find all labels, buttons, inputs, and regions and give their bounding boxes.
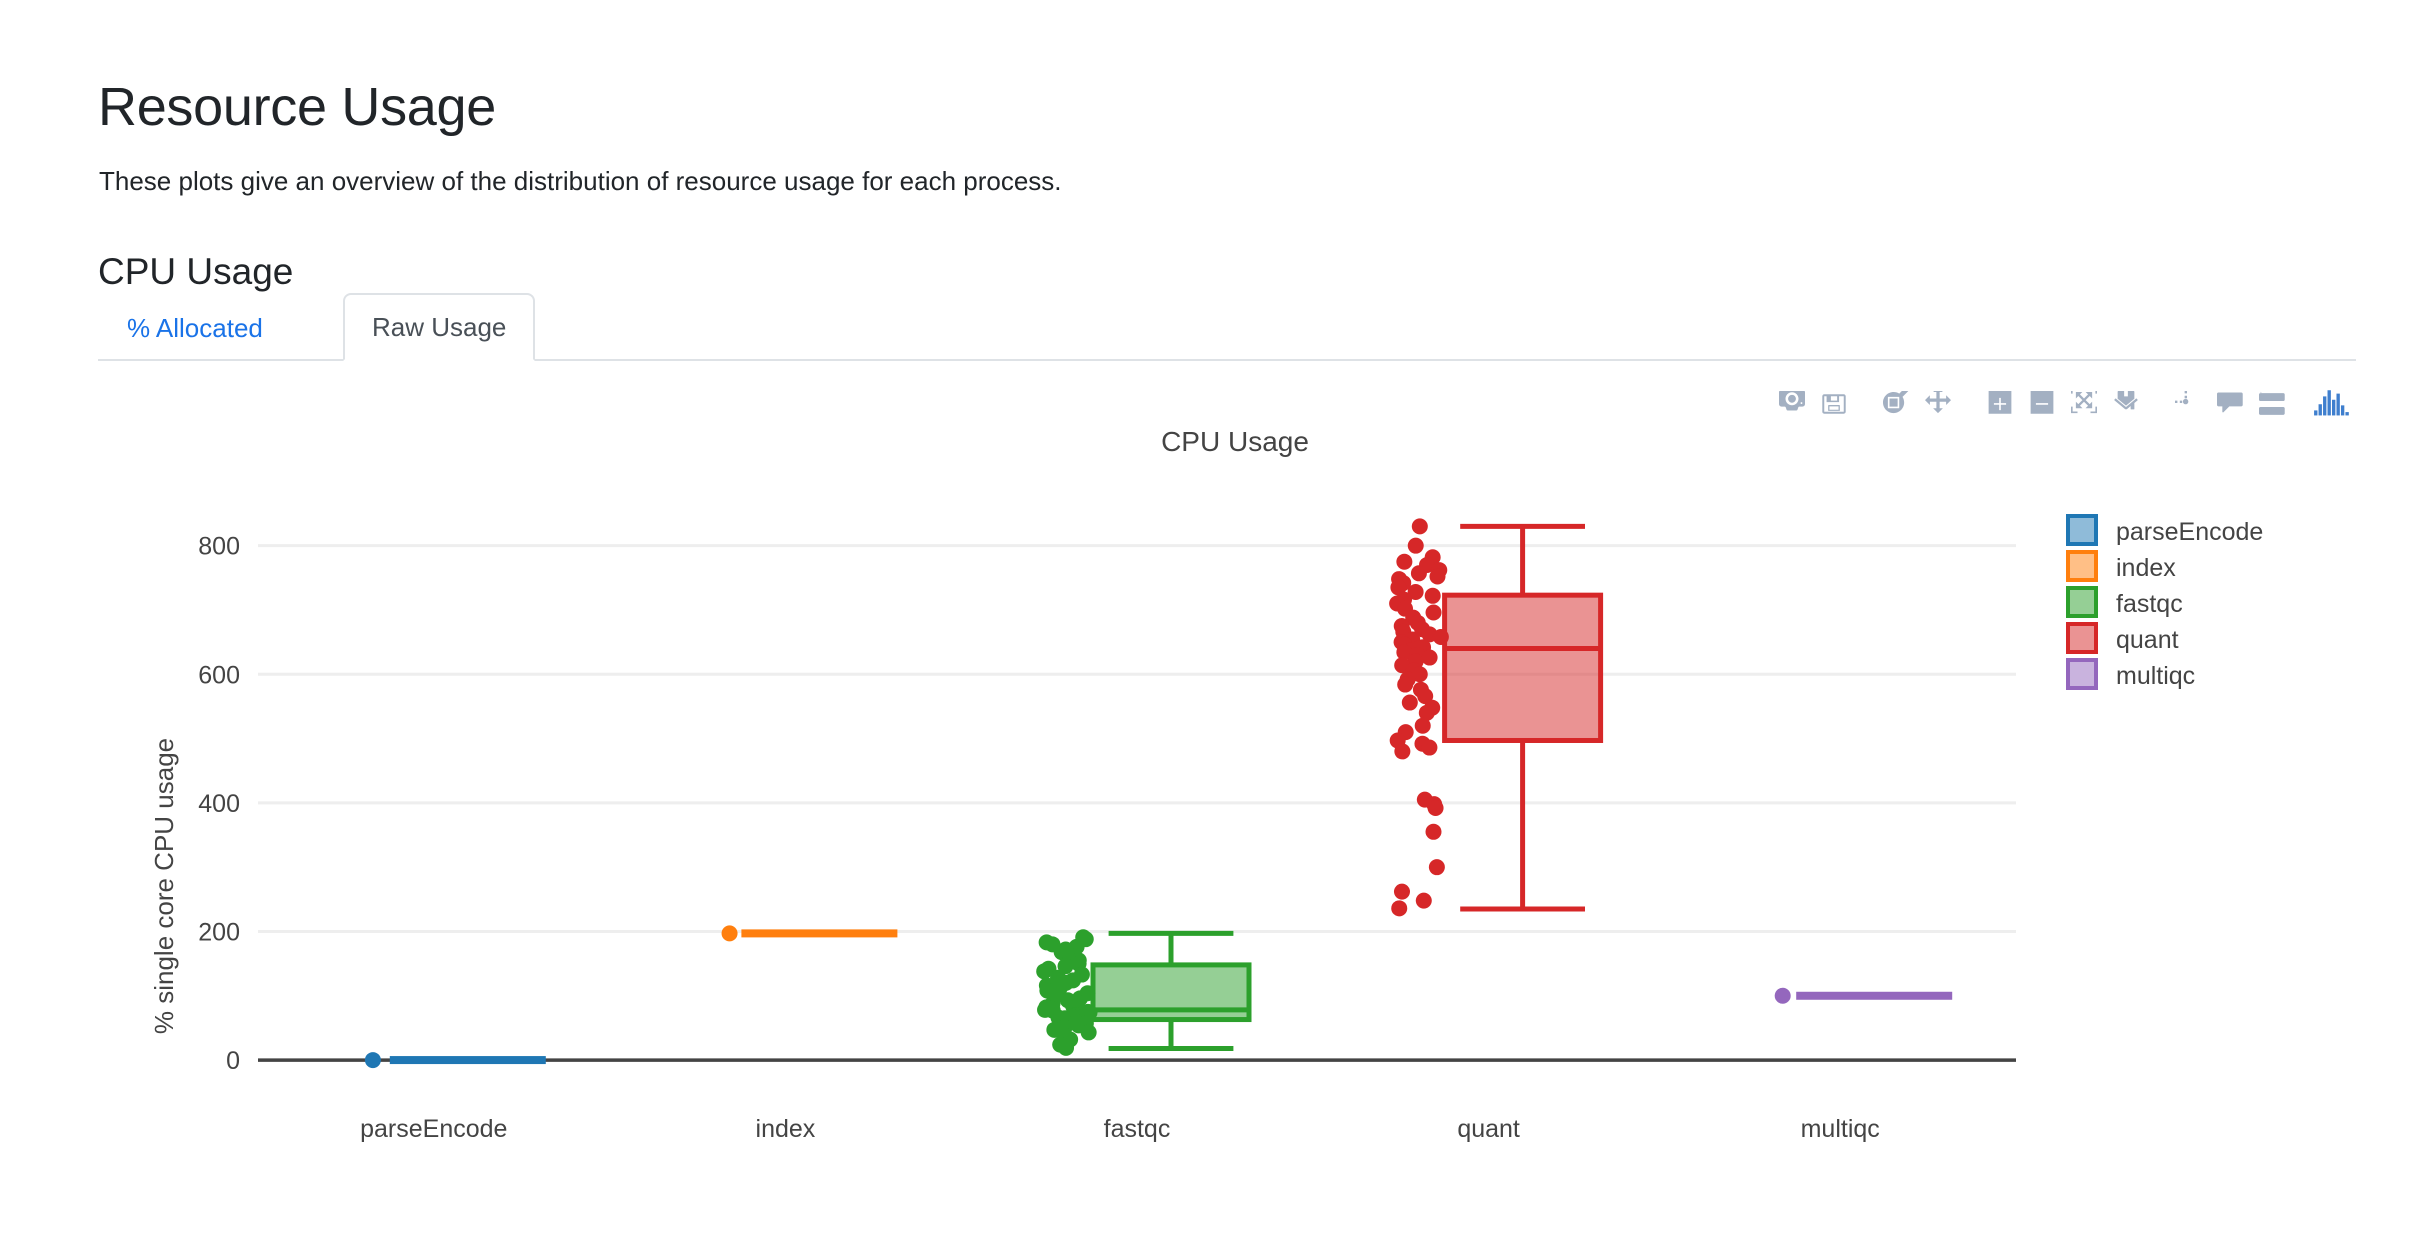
data-point[interactable] [1428, 800, 1444, 816]
tab-pct-allocated-label: % Allocated [127, 313, 263, 344]
legend-swatch-fastqc[interactable] [2068, 588, 2096, 616]
data-point[interactable] [1408, 538, 1424, 554]
data-point[interactable] [1415, 718, 1431, 734]
box-series-fastqc[interactable] [1036, 929, 1249, 1056]
data-point[interactable] [1433, 629, 1449, 645]
legend-swatch-parseEncode[interactable] [2068, 516, 2096, 544]
x-axis-tick-label: multiqc [1801, 1115, 1880, 1143]
data-point[interactable] [1412, 518, 1428, 534]
section-title-cpu-usage: CPU Usage [98, 251, 293, 293]
chart-title: CPU Usage [1161, 426, 1309, 457]
tab-raw-usage[interactable]: Raw Usage [343, 293, 535, 361]
cpu-usage-boxplot[interactable]: CPU Usage 0200400600800 parseEncodeindex… [98, 361, 2356, 1181]
box-iqr[interactable] [1445, 595, 1601, 740]
x-axis-tick-label: fastqc [1104, 1115, 1171, 1143]
data-point[interactable] [1402, 695, 1418, 711]
data-point[interactable] [1775, 988, 1791, 1004]
box-series-multiqc[interactable] [1775, 988, 1952, 1004]
box-flat-line [1796, 992, 1952, 1000]
cpu-usage-plot-container: CPU Usage 0200400600800 parseEncodeindex… [98, 361, 2356, 1181]
tab-pct-allocated[interactable]: % Allocated [98, 293, 292, 361]
page-description: These plots give an overview of the dist… [99, 166, 1062, 197]
box-series-index[interactable] [722, 925, 898, 941]
legend-swatch-quant[interactable] [2068, 624, 2096, 652]
cpu-usage-tablist: % Allocated Raw Usage [98, 293, 2356, 361]
data-point[interactable] [1391, 900, 1407, 916]
y-axis-tick-labels: 0200400600800 [198, 533, 240, 1075]
data-point[interactable] [1394, 884, 1410, 900]
data-point[interactable] [1429, 859, 1445, 875]
data-point[interactable] [1058, 1040, 1074, 1056]
chart-legend[interactable]: parseEncodeindexfastqcquantmultiqc [2068, 516, 2263, 690]
x-axis-tick-label: quant [1457, 1115, 1520, 1143]
data-point[interactable] [1397, 677, 1413, 693]
data-point[interactable] [1396, 554, 1412, 570]
box-flat-line [741, 929, 897, 937]
y-axis-tick-label: 200 [198, 918, 240, 946]
y-axis-tick-label: 800 [198, 533, 240, 561]
tab-raw-usage-label: Raw Usage [372, 312, 506, 343]
data-point[interactable] [722, 925, 738, 941]
legend-label-fastqc[interactable]: fastqc [2116, 590, 2183, 618]
x-axis-tick-label: index [756, 1115, 816, 1143]
x-axis-tick-labels: parseEncodeindexfastqcquantmultiqc [360, 1115, 1880, 1143]
page-title: Resource Usage [98, 78, 496, 137]
data-point[interactable] [1421, 740, 1437, 756]
y-axis-title: % single core CPU usage [149, 738, 179, 1034]
y-axis-tick-label: 400 [198, 790, 240, 818]
data-point[interactable] [365, 1052, 381, 1068]
data-point[interactable] [1425, 588, 1441, 604]
legend-swatch-multiqc[interactable] [2068, 660, 2096, 688]
data-point[interactable] [1422, 650, 1438, 666]
box-series-parseEncode[interactable] [365, 1052, 546, 1068]
data-point[interactable] [1425, 824, 1441, 840]
box-series-quant[interactable] [1389, 518, 1600, 916]
resource-usage-page: Resource Usage These plots give an overv… [0, 0, 2420, 1238]
y-axis-tick-label: 0 [226, 1047, 240, 1075]
data-point[interactable] [1081, 1024, 1097, 1040]
x-axis-tick-label: parseEncode [360, 1115, 507, 1143]
data-point[interactable] [1411, 565, 1427, 581]
legend-label-multiqc[interactable]: multiqc [2116, 662, 2195, 690]
data-point[interactable] [1036, 963, 1052, 979]
data-point[interactable] [1416, 893, 1432, 909]
chart-title-group: CPU Usage [1161, 426, 1309, 457]
legend-swatch-index[interactable] [2068, 552, 2096, 580]
legend-label-quant[interactable]: quant [2116, 626, 2179, 654]
data-point[interactable] [1426, 605, 1442, 621]
data-point[interactable] [1430, 569, 1446, 585]
boxplot-series-layer[interactable] [365, 518, 1952, 1068]
legend-label-index[interactable]: index [2116, 554, 2176, 582]
box-flat-line [390, 1056, 546, 1064]
data-point[interactable] [1394, 743, 1410, 759]
y-axis-tick-label: 600 [198, 661, 240, 689]
legend-label-parseEncode[interactable]: parseEncode [2116, 518, 2263, 546]
